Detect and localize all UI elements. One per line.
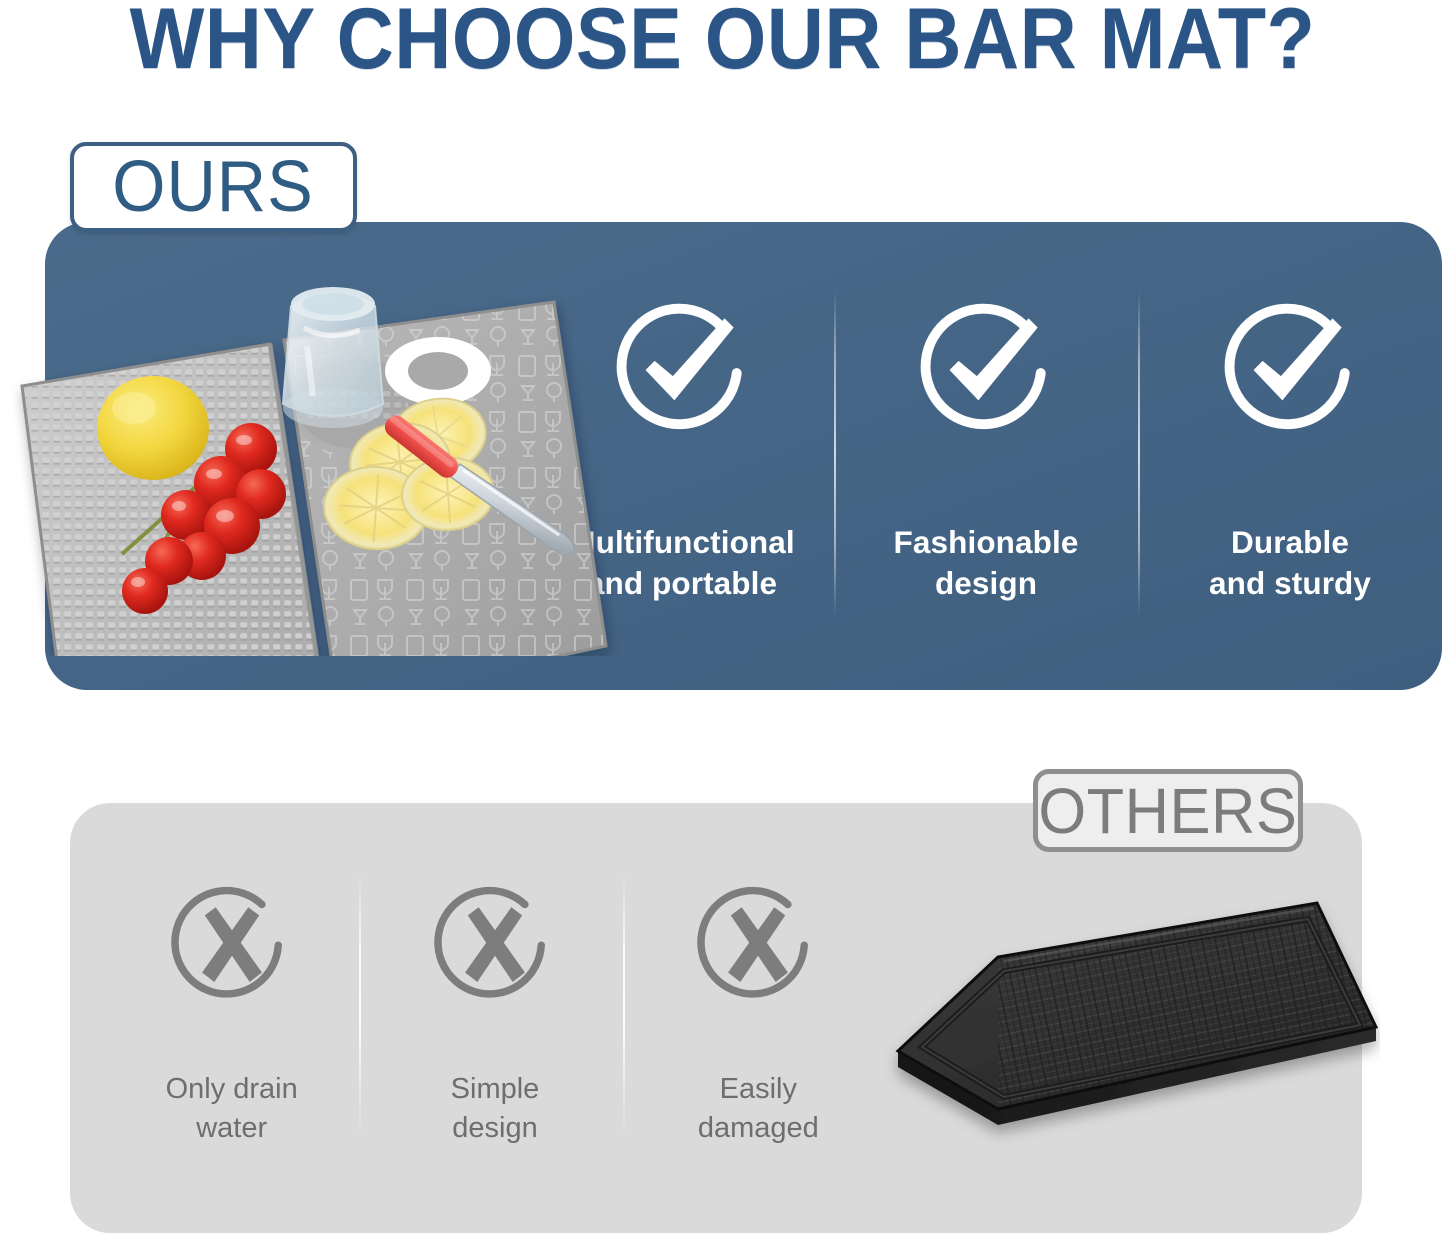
check-circle-icon xyxy=(606,294,758,446)
badge-ours: OURS xyxy=(70,142,357,232)
feature-line-2: water xyxy=(106,1109,357,1148)
others-feature-label: Only drain water xyxy=(100,1070,363,1148)
others-feature-label: Easily damaged xyxy=(627,1070,890,1148)
feature-line-2: damaged xyxy=(633,1109,884,1148)
ours-feature-label: Durable and sturdy xyxy=(1138,522,1442,604)
feature-line-2: and sturdy xyxy=(1148,563,1432,604)
feature-divider xyxy=(623,870,625,1140)
ours-product-photo xyxy=(8,236,628,656)
infographic-root: WHY CHOOSE OUR BAR MAT? xyxy=(0,0,1445,1241)
x-circle-icon xyxy=(164,880,300,1016)
feature-line-1: Easily xyxy=(633,1070,884,1109)
feature-line-1: Durable xyxy=(1148,522,1432,563)
ours-feature-item: Durable and sturdy xyxy=(1138,222,1442,690)
ours-feature-list: Multifunctional and portable Fashionable… xyxy=(530,222,1442,690)
badge-ours-label: OURS xyxy=(113,151,314,223)
feature-line-2: design xyxy=(369,1109,620,1148)
feature-line-1: Simple xyxy=(369,1070,620,1109)
others-feature-item: Only drain water xyxy=(100,860,363,1190)
others-feature-item: Simple design xyxy=(363,860,626,1190)
page-title: WHY CHOOSE OUR BAR MAT? xyxy=(58,0,1387,84)
others-feature-label: Simple design xyxy=(363,1070,626,1148)
ours-feature-label: Fashionable design xyxy=(834,522,1138,604)
x-circle-icon xyxy=(427,880,563,1016)
others-product-photo xyxy=(880,895,1380,1165)
check-circle-icon xyxy=(910,294,1062,446)
badge-others-label: OTHERS xyxy=(1039,779,1298,843)
feature-divider xyxy=(359,870,361,1140)
check-circle-icon xyxy=(1214,294,1366,446)
feature-line-1: Fashionable xyxy=(844,522,1128,563)
others-feature-item: Easily damaged xyxy=(627,860,890,1190)
feature-line-2: design xyxy=(844,563,1128,604)
feature-line-1: Only drain xyxy=(106,1070,357,1109)
badge-others: OTHERS xyxy=(1033,769,1303,852)
x-circle-icon xyxy=(690,880,826,1016)
others-feature-list: Only drain water Simple design xyxy=(100,860,890,1190)
ours-feature-item: Fashionable design xyxy=(834,222,1138,690)
